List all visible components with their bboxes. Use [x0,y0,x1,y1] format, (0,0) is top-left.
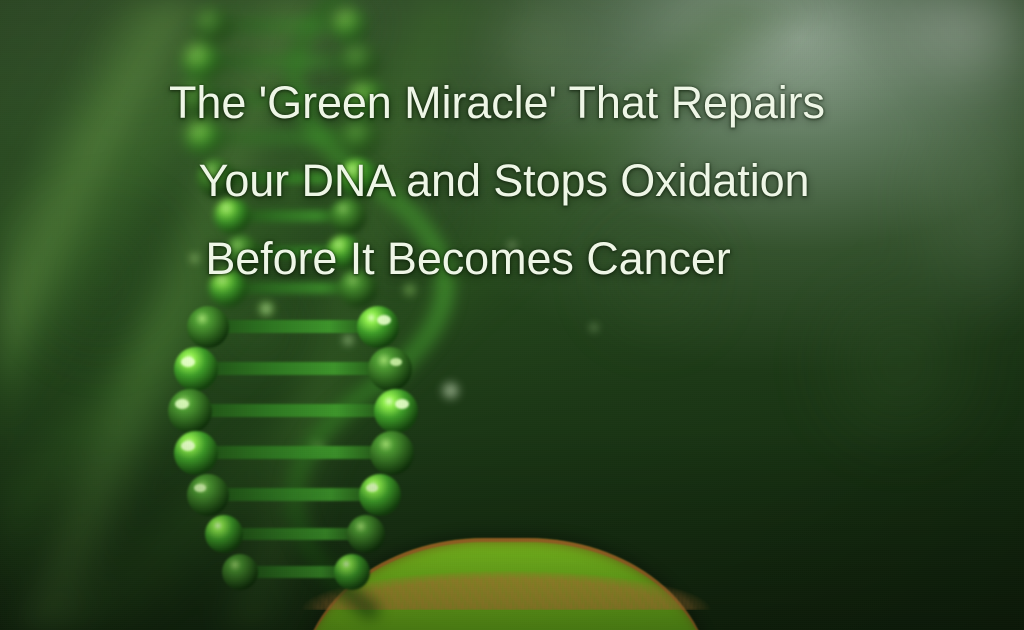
image-canvas: The 'Green Miracle' That Repairs Your DN… [0,0,1024,630]
headline-line-3: Before It Becomes Cancer [0,220,1024,298]
kiwi-fruit [300,538,712,630]
headline-block: The 'Green Miracle' That Repairs Your DN… [0,64,1024,298]
headline-line-1: The 'Green Miracle' That Repairs [0,64,1024,142]
headline-line-2: Your DNA and Stops Oxidation [0,142,1024,220]
dna-specular-highlights [175,315,409,492]
